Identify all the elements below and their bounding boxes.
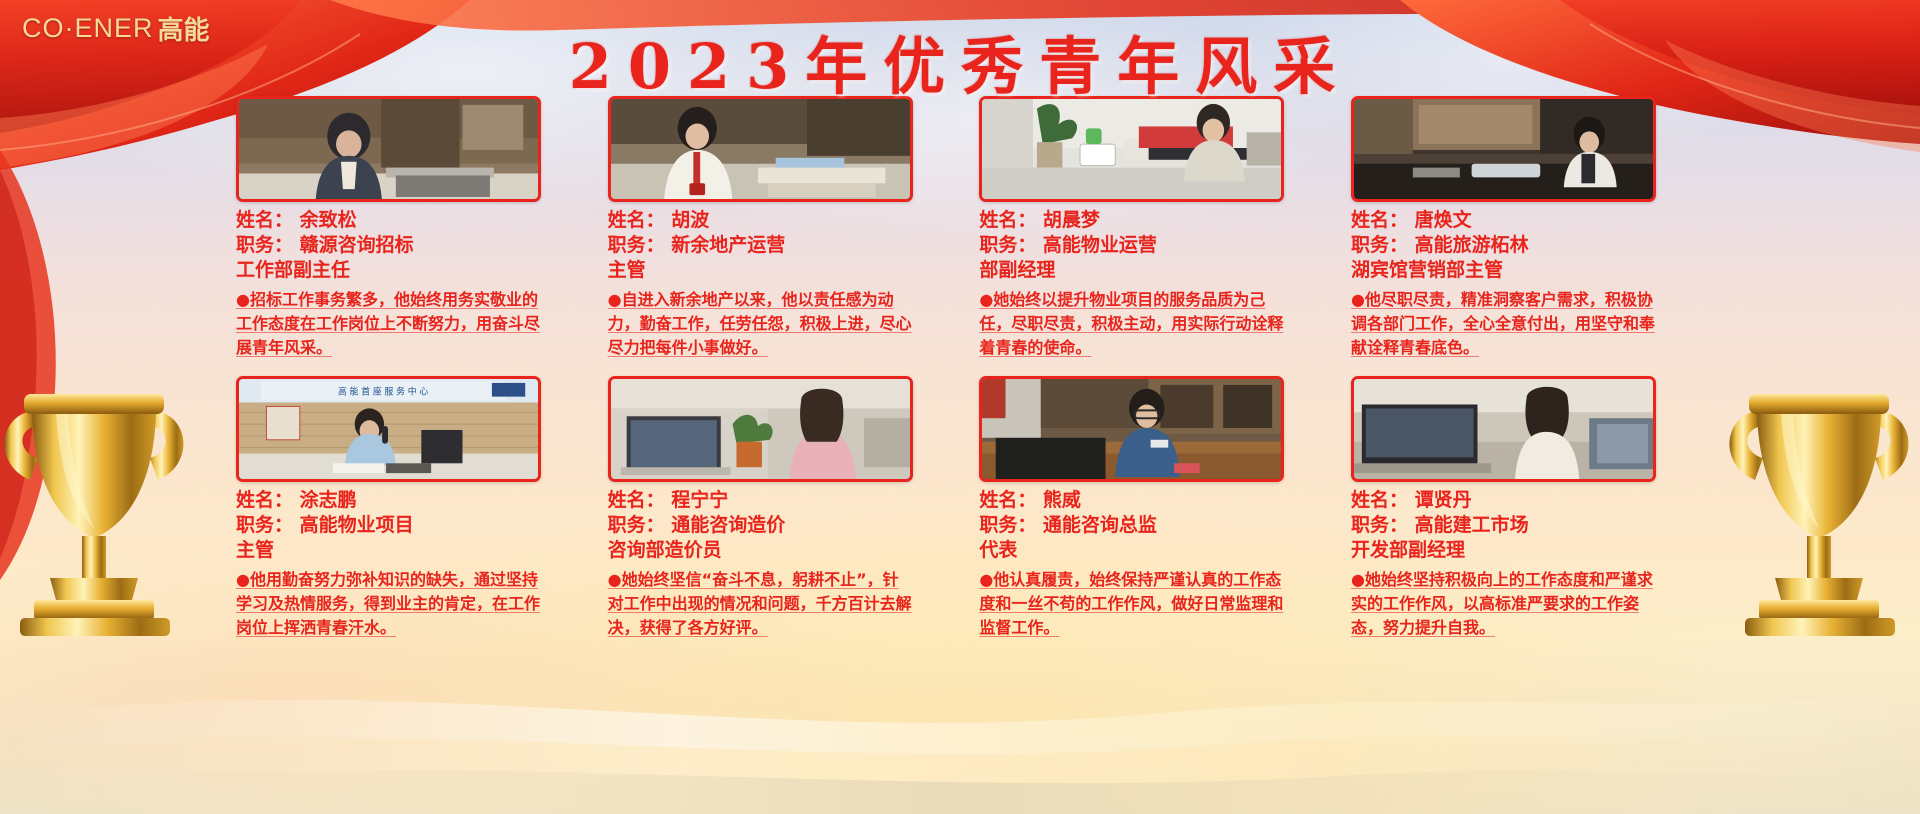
profile-photo	[608, 376, 913, 482]
photo-image	[982, 379, 1281, 482]
profile-description: ●自进入新余地产以来，他以责任感为动力，勤奋工作，任劳任怨，积极上进，尽心尽力把…	[608, 288, 913, 360]
profile-role-line1: 职务： 通能咨询造价	[608, 513, 913, 538]
photo-image	[611, 379, 910, 482]
photo-image	[1354, 379, 1653, 482]
profile-photo	[979, 96, 1284, 202]
profile-info: 姓名： 余致松 职务： 赣源咨询招标 工作部副主任	[236, 208, 541, 283]
profile-photo	[608, 96, 913, 202]
profile-name: 姓名： 唐焕文	[1351, 208, 1656, 233]
profile-info: 姓名： 唐焕文 职务： 高能旅游柘林 湖宾馆营销部主管	[1351, 208, 1656, 283]
profile-photo: 高 能 首 座 服 务 中 心	[236, 376, 541, 482]
photo-image	[982, 99, 1281, 202]
profile-name: 姓名： 熊威	[979, 488, 1284, 513]
photo-image: 高 能 首 座 服 务 中 心	[239, 379, 538, 482]
profile-name: 姓名： 程宁宁	[608, 488, 913, 513]
profile-info: 姓名： 谭贤丹 职务： 高能建工市场 开发部副经理	[1351, 488, 1656, 563]
gold-trophy-icon	[1715, 352, 1920, 642]
profile-info: 姓名： 熊威 职务： 通能咨询总监 代表	[979, 488, 1284, 563]
profile-role-line2: 主管	[236, 538, 541, 563]
profile-role-line2: 代表	[979, 538, 1284, 563]
photo-image	[611, 99, 910, 202]
profile-description: ●招标工作事务繁多，他始终用务实敬业的工作态度在工作岗位上不断努力，用奋斗尽展青…	[236, 288, 541, 360]
profile-role-line2: 部副经理	[979, 258, 1284, 283]
profile-card[interactable]: 高 能 首 座 服 务 中 心 姓名： 涂志鹏 职务： 高能	[236, 376, 541, 640]
profile-card[interactable]: 姓名： 胡晨梦 职务： 高能物业运营 部副经理 ●她始终以提升物业项目的服务品质…	[979, 96, 1284, 360]
left-red-corner-decoration	[0, 150, 190, 580]
profile-role-line1: 职务： 高能旅游柘林	[1351, 233, 1656, 258]
profile-role-line1: 职务： 新余地产运营	[608, 233, 913, 258]
brand-logo[interactable]: CO·ENER 高能	[22, 10, 210, 47]
profile-description: ●他认真履责，始终保持严谨认真的工作态度和一丝不苟的工作作风，做好日常监理和监督…	[979, 568, 1284, 640]
profile-role-line2: 工作部副主任	[236, 258, 541, 283]
profile-info: 姓名： 胡晨梦 职务： 高能物业运营 部副经理	[979, 208, 1284, 283]
profile-name: 姓名： 谭贤丹	[1351, 488, 1656, 513]
profile-role-line1: 职务： 高能建工市场	[1351, 513, 1656, 538]
profile-card[interactable]: 姓名： 唐焕文 职务： 高能旅游柘林 湖宾馆营销部主管 ●他尽职尽责，精准洞察客…	[1351, 96, 1656, 360]
profile-photo	[979, 376, 1284, 482]
profile-info: 姓名： 胡波 职务： 新余地产运营 主管	[608, 208, 913, 283]
profile-role-line1: 职务： 高能物业运营	[979, 233, 1284, 258]
profile-role-line1: 职务： 高能物业项目	[236, 513, 541, 538]
photo-image	[1354, 99, 1653, 202]
profile-role-line2: 咨询部造价员	[608, 538, 913, 563]
logo-wordmark: CO·ENER	[22, 13, 154, 44]
profile-card[interactable]: 姓名： 谭贤丹 职务： 高能建工市场 开发部副经理 ●她始终坚持积极向上的工作态…	[1351, 376, 1656, 640]
profile-info: 姓名： 程宁宁 职务： 通能咨询造价 咨询部造价员	[608, 488, 913, 563]
profile-description: ●她始终坚持积极向上的工作态度和严谨求实的工作作风，以高标准严要求的工作姿态，努…	[1351, 568, 1656, 640]
profile-card[interactable]: 姓名： 胡波 职务： 新余地产运营 主管 ●自进入新余地产以来，他以责任感为动力…	[608, 96, 913, 360]
profile-photo	[1351, 96, 1656, 202]
page-title: 2023年优秀青年风采	[0, 16, 1920, 106]
profile-name: 姓名： 余致松	[236, 208, 541, 233]
profile-name: 姓名： 涂志鹏	[236, 488, 541, 513]
profile-info: 姓名： 涂志鹏 职务： 高能物业项目 主管	[236, 488, 541, 563]
profile-card[interactable]: 姓名： 程宁宁 职务： 通能咨询造价 咨询部造价员 ●她始终坚信“奋斗不息，躬耕…	[608, 376, 913, 640]
photo-image	[239, 99, 538, 202]
profile-role-line2: 主管	[608, 258, 913, 283]
profile-role-line1: 职务： 通能咨询总监	[979, 513, 1284, 538]
profile-role-line2: 开发部副经理	[1351, 538, 1656, 563]
profile-description: ●他用勤奋努力弥补知识的缺失，通过坚持学习及热情服务，得到业主的肯定，在工作岗位…	[236, 568, 541, 640]
profile-name: 姓名： 胡晨梦	[979, 208, 1284, 233]
svg-text:高 能 首 座 服 务 中 心: 高 能 首 座 服 务 中 心	[338, 386, 428, 398]
profile-photo	[236, 96, 541, 202]
profile-card-grid: 姓名： 余致松 职务： 赣源咨询招标 工作部副主任 ●招标工作事务繁多，他始终用…	[236, 96, 1656, 640]
profile-photo	[1351, 376, 1656, 482]
profile-name: 姓名： 胡波	[608, 208, 913, 233]
profile-description: ●她始终以提升物业项目的服务品质为己任，尽职尽责，积极主动，用实际行动诠释着青春…	[979, 288, 1284, 360]
profile-card[interactable]: 姓名： 余致松 职务： 赣源咨询招标 工作部副主任 ●招标工作事务繁多，他始终用…	[236, 96, 541, 360]
profile-role-line1: 职务： 赣源咨询招标	[236, 233, 541, 258]
profile-description: ●他尽职尽责，精准洞察客户需求，积极协调各部门工作，全心全意付出，用坚守和奉献诠…	[1351, 288, 1656, 360]
profile-description: ●她始终坚信“奋斗不息，躬耕不止”，针对工作中出现的情况和问题，千方百计去解决，…	[608, 568, 913, 640]
gold-trophy-icon	[0, 352, 205, 642]
profile-card[interactable]: 姓名： 熊威 职务： 通能咨询总监 代表 ●他认真履责，始终保持严谨认真的工作态…	[979, 376, 1284, 640]
logo-chinese-name: 高能	[158, 10, 210, 47]
profile-role-line2: 湖宾馆营销部主管	[1351, 258, 1656, 283]
